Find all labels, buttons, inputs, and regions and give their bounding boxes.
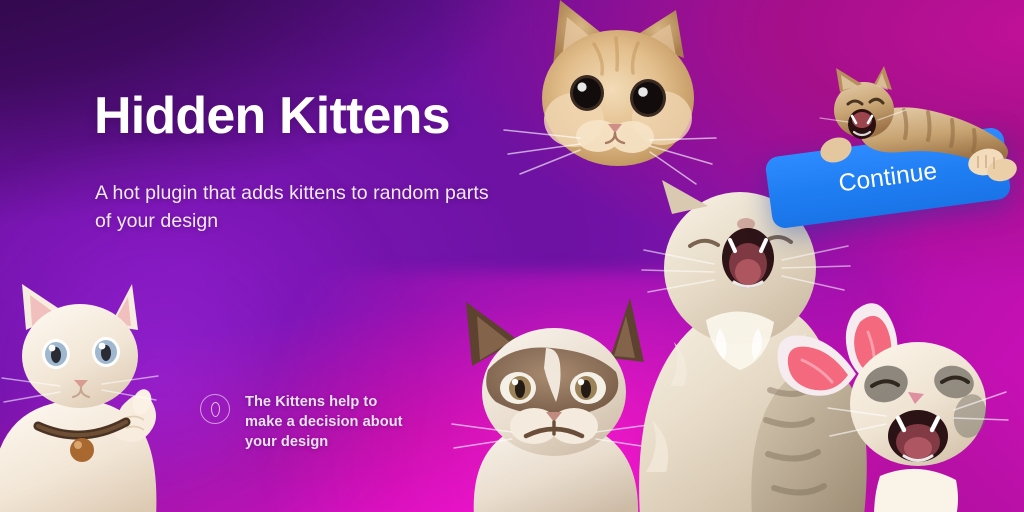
white-cat-thumbs-up <box>0 278 176 512</box>
tabby-kitten-on-button <box>818 66 1018 184</box>
page-subtitle: A hot plugin that adds kittens to random… <box>95 180 495 235</box>
page-title: Hidden Kittens <box>94 88 450 144</box>
footnote-label: The Kittens help to make a decision abou… <box>245 393 417 453</box>
footnote: The Kittens help to make a decision abou… <box>200 393 417 453</box>
cat-with-bunny-ears <box>758 296 1008 512</box>
drop-outline-icon <box>200 394 230 424</box>
hero-banner: Hidden Kittens A hot plugin that adds ki… <box>0 0 1024 512</box>
ginger-kitten-head <box>498 0 718 193</box>
